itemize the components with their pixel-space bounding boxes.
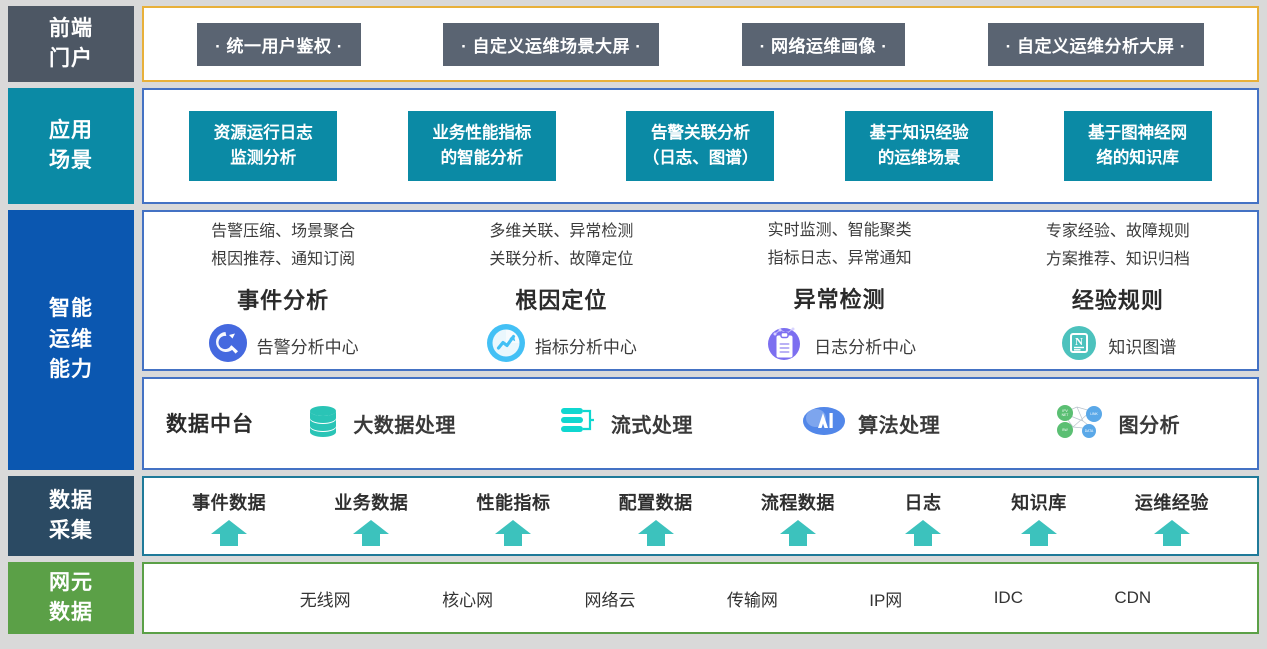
alert-analysis-icon	[208, 323, 248, 368]
up-arrow-icon	[351, 519, 391, 552]
database-icon	[305, 404, 341, 443]
stream-icon	[559, 405, 599, 442]
capability-subtitle: 专家经验、故障规则	[1046, 219, 1190, 245]
capability-column-event-analysis: 告警压缩、场景聚合 根因推荐、通知订阅 事件分析	[144, 212, 422, 369]
capability-title: 事件分析	[237, 283, 329, 315]
up-arrow-icon	[209, 519, 249, 552]
collection-label: 日志	[905, 489, 942, 515]
log-analysis-icon	[763, 322, 805, 369]
up-arrow-icon	[493, 519, 533, 552]
up-arrow-icon	[1019, 519, 1059, 552]
row-application-scenarios: 应用 场景 资源运行日志 监测分析 业务性能指标 的智能分析 告警关联分析 （日…	[8, 88, 1259, 204]
network-element-item-core[interactable]: 核心网	[442, 586, 493, 611]
capability-center-label: 日志分析中心	[814, 333, 916, 358]
collection-item-logs[interactable]: 日志	[903, 489, 943, 552]
data-platform-item-stream[interactable]: 流式处理	[507, 405, 744, 442]
row-label-application-scenarios: 应用 场景	[8, 88, 134, 204]
app-chip-line: 业务性能指标	[422, 121, 542, 146]
collection-item-performance-metrics[interactable]: 性能指标	[476, 489, 550, 552]
data-platform-label: 流式处理	[611, 409, 693, 438]
row-label-data-collection: 数据 采集	[8, 476, 134, 556]
knowledge-graph-icon: N	[1059, 323, 1099, 368]
portal-chip-network-ops-profile[interactable]: · 网络运维画像 ·	[742, 23, 906, 66]
row-aiops-capability: 智能 运维 能力 告警压缩、场景聚合 根因推荐、通知订阅 事件分析	[8, 210, 1259, 470]
collection-label: 事件数据	[192, 489, 266, 515]
capability-center-link[interactable]: 指标分析中心	[486, 323, 637, 368]
app-chip-line: 基于知识经验	[859, 121, 979, 146]
app-chip-line: 基于图神经网	[1078, 121, 1198, 146]
capability-column-anomaly-detection: 实时监测、智能聚类 指标日志、异常通知 异常检测	[701, 212, 979, 369]
collection-label: 性能指标	[476, 489, 550, 515]
up-arrow-icon	[636, 519, 676, 552]
capability-column-experience-rules: 专家经验、故障规则 方案推荐、知识归档 经验规则 N	[979, 212, 1257, 369]
row-label-line: 能力	[49, 355, 93, 385]
capability-center-label: 告警分析中心	[257, 333, 359, 358]
data-platform-item-bigdata[interactable]: 大数据处理	[262, 404, 499, 443]
app-chip-knowledge-based-ops[interactable]: 基于知识经验 的运维场景	[845, 111, 993, 181]
up-arrow-icon	[778, 519, 818, 552]
collection-label: 运维经验	[1135, 489, 1209, 515]
app-chip-business-performance-analysis[interactable]: 业务性能指标 的智能分析	[408, 111, 556, 181]
app-chip-line: 监测分析	[203, 146, 323, 171]
app-chip-resource-log-monitoring[interactable]: 资源运行日志 监测分析	[189, 111, 337, 181]
network-element-item-ip[interactable]: IP网	[869, 586, 902, 611]
network-element-item-cloud[interactable]: 网络云	[584, 586, 635, 611]
network-element-item-idc[interactable]: IDC	[994, 588, 1023, 608]
row-label-line: 智能	[49, 294, 93, 324]
data-collection-panel: 事件数据 业务数据 性能指标	[142, 476, 1259, 556]
row-label-line: 运维	[49, 325, 93, 355]
capability-subtitle: 指标日志、异常通知	[768, 246, 912, 272]
capability-subtitle: 告警压缩、场景聚合	[211, 219, 355, 245]
row-network-element-data: 网元 数据 无线网 核心网 网络云 传输网 IP网 IDC CDN	[8, 562, 1259, 634]
row-label-line: 采集	[49, 516, 93, 546]
up-arrow-icon	[1152, 519, 1192, 552]
collection-item-process-data[interactable]: 流程数据	[761, 489, 835, 552]
data-platform-panel: 数据中台 大数据处理	[142, 377, 1259, 470]
row-label-aiops-capability: 智能 运维 能力	[8, 210, 134, 470]
capability-title: 异常检测	[794, 282, 886, 314]
row-label-line: 场景	[49, 146, 93, 176]
collection-item-ops-experience[interactable]: 运维经验	[1135, 489, 1209, 552]
row-label-line: 应用	[49, 116, 93, 146]
row-data-collection: 数据 采集 事件数据 业务数据 性能指标	[8, 476, 1259, 556]
row-label-line: 前端	[49, 14, 93, 44]
row-label-line: 数据	[49, 486, 93, 516]
up-arrow-icon	[903, 519, 943, 552]
capability-center-link[interactable]: 日志分析中心	[763, 322, 916, 369]
app-chip-line: 告警关联分析	[640, 121, 760, 146]
app-chip-line: 资源运行日志	[203, 121, 323, 146]
data-platform-item-graph[interactable]: IPV NET LINK BW DATA 图分析	[998, 401, 1235, 446]
network-element-item-cdn[interactable]: CDN	[1114, 588, 1151, 608]
capability-center-label: 知识图谱	[1108, 333, 1176, 358]
network-element-item-wireless[interactable]: 无线网	[300, 586, 351, 611]
portal-chip-custom-analysis-dashboard[interactable]: · 自定义运维分析大屏 ·	[988, 23, 1204, 66]
data-platform-label: 大数据处理	[353, 409, 456, 438]
app-chip-alarm-correlation-analysis[interactable]: 告警关联分析 （日志、图谱）	[626, 111, 774, 181]
row-label-line: 门户	[49, 44, 93, 74]
row-label-line: 网元	[49, 568, 93, 598]
svg-text:LINK: LINK	[1090, 412, 1098, 416]
data-platform-item-algorithm[interactable]: 算法处理	[753, 404, 990, 443]
collection-label: 知识库	[1011, 489, 1067, 515]
metric-analysis-icon	[486, 323, 526, 368]
ai-icon	[802, 404, 846, 443]
row-label-front-portal: 前端 门户	[8, 6, 134, 82]
data-platform-label: 算法处理	[858, 409, 940, 438]
architecture-diagram: 前端 门户 · 统一用户鉴权 · · 自定义运维场景大屏 · · 网络运维画像 …	[0, 0, 1267, 649]
capability-subtitle: 关联分析、故障定位	[489, 247, 633, 273]
collection-item-business-data[interactable]: 业务数据	[334, 489, 408, 552]
app-chip-line: 的智能分析	[422, 146, 542, 171]
collection-label: 流程数据	[761, 489, 835, 515]
capability-title: 根因定位	[515, 283, 607, 315]
aiops-capability-panel: 告警压缩、场景聚合 根因推荐、通知订阅 事件分析	[142, 210, 1259, 371]
app-chip-gnn-knowledge-base[interactable]: 基于图神经网 络的知识库	[1064, 111, 1212, 181]
capability-center-link[interactable]: N 知识图谱	[1059, 323, 1176, 368]
network-element-item-transport[interactable]: 传输网	[727, 586, 778, 611]
portal-chip-unified-auth[interactable]: · 统一用户鉴权 ·	[197, 23, 361, 66]
svg-text:DATA: DATA	[1084, 429, 1093, 433]
collection-label: 业务数据	[334, 489, 408, 515]
capability-center-label: 指标分析中心	[535, 333, 637, 358]
collection-item-knowledge-base[interactable]: 知识库	[1011, 489, 1067, 552]
collection-item-event-data[interactable]: 事件数据	[192, 489, 266, 552]
app-chip-line: （日志、图谱）	[640, 146, 760, 171]
front-portal-panel: · 统一用户鉴权 · · 自定义运维场景大屏 · · 网络运维画像 · · 自定…	[142, 6, 1259, 82]
capability-subtitle: 多维关联、异常检测	[489, 219, 633, 245]
portal-chip-custom-ops-dashboard[interactable]: · 自定义运维场景大屏 ·	[443, 23, 659, 66]
network-element-panel: 无线网 核心网 网络云 传输网 IP网 IDC CDN	[142, 562, 1259, 634]
capability-column-root-cause: 多维关联、异常检测 关联分析、故障定位 根因定位	[422, 212, 700, 369]
graph-network-icon: IPV NET LINK BW DATA	[1053, 401, 1107, 446]
data-platform-title: 数据中台	[166, 408, 254, 438]
svg-text:NET: NET	[1061, 413, 1068, 417]
capability-subtitle: 方案推荐、知识归档	[1046, 247, 1190, 273]
app-chip-line: 络的知识库	[1078, 146, 1198, 171]
capability-title: 经验规则	[1072, 283, 1164, 315]
capability-subtitle: 根因推荐、通知订阅	[211, 247, 355, 273]
data-platform-label: 图分析	[1119, 409, 1181, 438]
collection-item-configuration-data[interactable]: 配置数据	[619, 489, 693, 552]
row-front-portal: 前端 门户 · 统一用户鉴权 · · 自定义运维场景大屏 · · 网络运维画像 …	[8, 6, 1259, 82]
row-label-line: 数据	[49, 598, 93, 628]
application-scenarios-panel: 资源运行日志 监测分析 业务性能指标 的智能分析 告警关联分析 （日志、图谱） …	[142, 88, 1259, 204]
capability-center-link[interactable]: 告警分析中心	[208, 323, 359, 368]
collection-label: 配置数据	[619, 489, 693, 515]
capability-subtitle: 实时监测、智能聚类	[768, 218, 912, 244]
svg-text:BW: BW	[1062, 428, 1068, 432]
row-label-network-element-data: 网元 数据	[8, 562, 134, 634]
app-chip-line: 的运维场景	[859, 146, 979, 171]
svg-text:N: N	[1075, 336, 1083, 348]
